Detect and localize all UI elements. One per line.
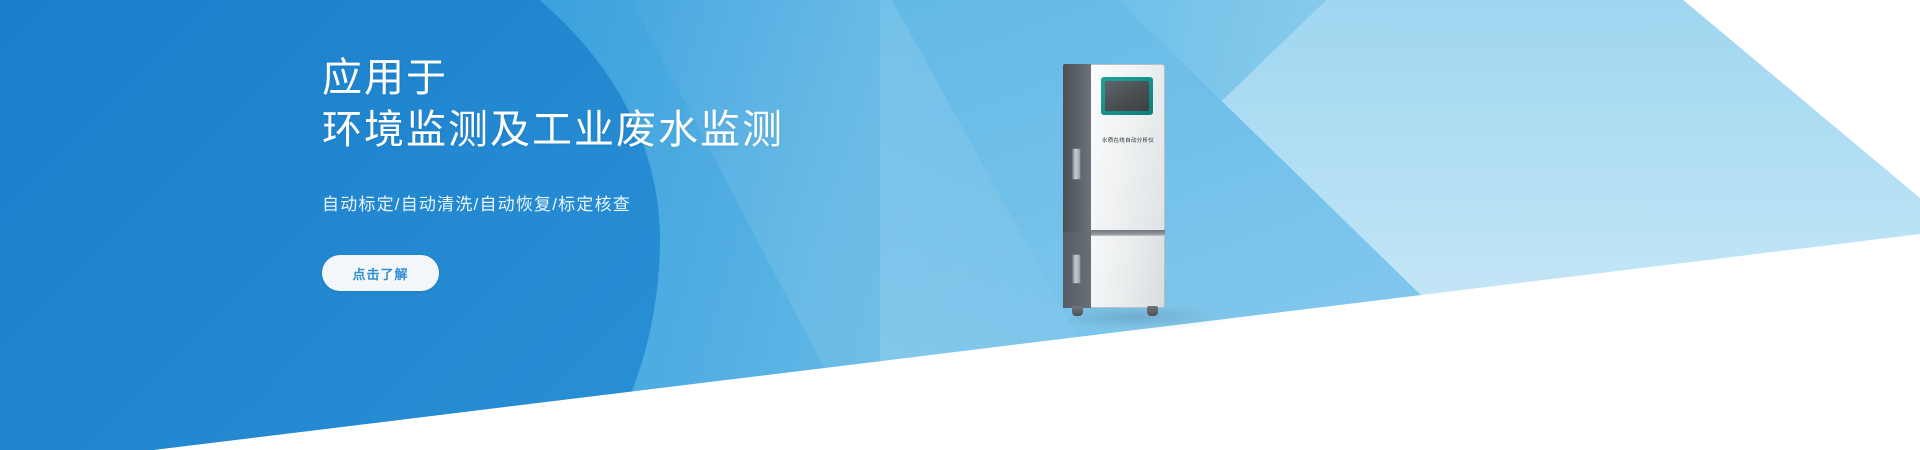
headline-line-1: 应用于	[322, 56, 448, 100]
caster-right	[1147, 306, 1158, 316]
product-image-analyzer: 水质在线自动分析仪	[1063, 64, 1195, 316]
analyzer-cabinet: 水质在线自动分析仪	[1063, 64, 1165, 308]
analyzer-display-bezel	[1101, 77, 1153, 115]
cabinet-handle-lower	[1072, 254, 1081, 284]
caster-left	[1072, 306, 1083, 316]
cabinet-handle-upper	[1072, 148, 1081, 180]
analyzer-product-label: 水质在线自动分析仪	[1093, 136, 1163, 144]
cabinet-seam	[1090, 230, 1165, 235]
analyzer-display-screen	[1105, 81, 1149, 111]
headline-line-2: 环境监测及工业废水监测	[322, 104, 942, 156]
cabinet-lower-door	[1090, 235, 1165, 308]
hero-banner: 应用于 环境监测及工业废水监测 自动标定/自动清洗/自动恢复/标定核查 点击了解…	[0, 0, 1920, 450]
banner-subtitle: 自动标定/自动清洗/自动恢复/标定核查	[322, 190, 942, 215]
banner-content: 应用于 环境监测及工业废水监测 自动标定/自动清洗/自动恢复/标定核查 点击了解	[322, 52, 942, 291]
learn-more-button[interactable]: 点击了解	[322, 255, 439, 291]
banner-headline: 应用于 环境监测及工业废水监测	[322, 52, 942, 156]
